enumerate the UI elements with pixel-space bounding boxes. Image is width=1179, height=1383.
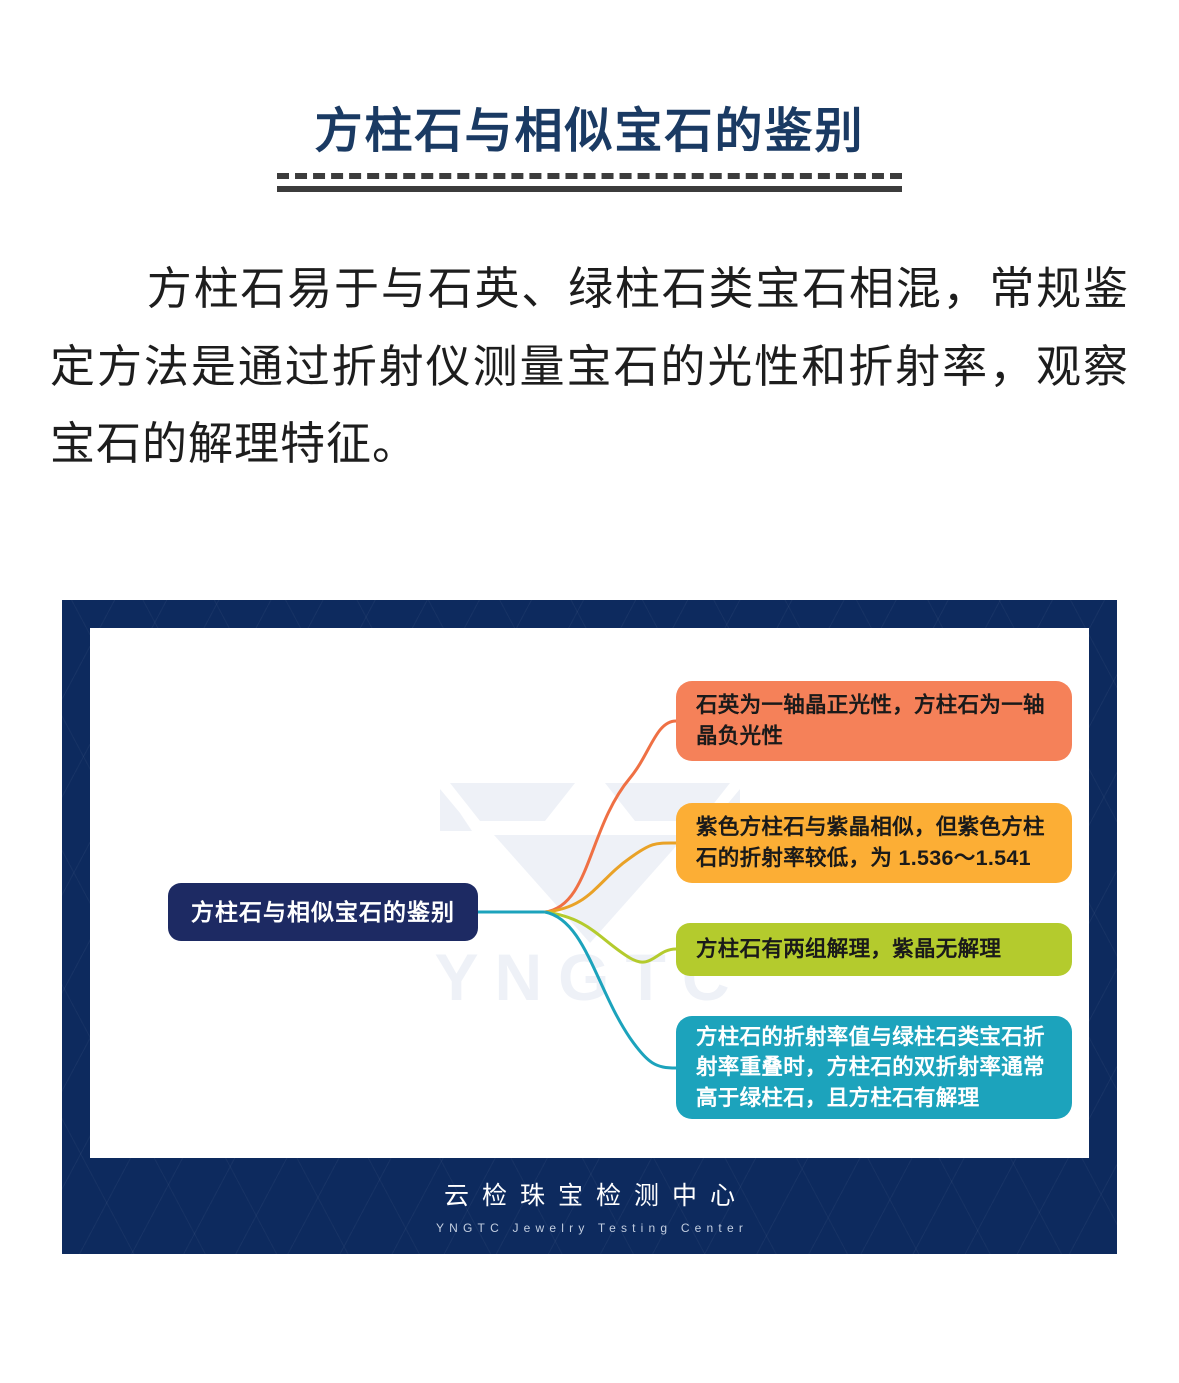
mindmap-card: YNGTC 方柱石与相似宝石的鉴别 石英为一轴晶正光性，方柱石为一轴晶负光性 紫… <box>90 628 1089 1158</box>
mindmap-branch-4-label: 方柱石的折射率值与绿柱石类宝石折射率重叠时，方柱石的双折射率通常高于绿柱石，且方… <box>696 1022 1052 1114</box>
mindmap-branch-1-label: 石英为一轴晶正光性，方柱石为一轴晶负光性 <box>696 690 1052 751</box>
mindmap-branch-1[interactable]: 石英为一轴晶正光性，方柱石为一轴晶负光性 <box>676 681 1072 761</box>
page-title: 方柱石与相似宝石的鉴别 <box>0 104 1179 159</box>
brand-name-en: YNGTC Jewelry Testing Center <box>62 1221 1117 1235</box>
title-block: 方柱石与相似宝石的鉴别 <box>0 0 1179 192</box>
solid-rule <box>277 186 902 192</box>
mindmap-frame: YNGTC 方柱石与相似宝石的鉴别 石英为一轴晶正光性，方柱石为一轴晶负光性 紫… <box>62 600 1117 1254</box>
title-underline-rules <box>277 173 902 192</box>
brand-name-cn: 云检珠宝检测中心 <box>62 1176 1117 1212</box>
dashed-rule <box>277 173 902 179</box>
footer-brand: 云检珠宝检测中心 YNGTC Jewelry Testing Center <box>62 1176 1117 1235</box>
body-paragraph: 方柱石易于与石英、绿柱石类宝石相混，常规鉴定方法是通过折射仪测量宝石的光性和折射… <box>50 250 1129 482</box>
body-paragraph-text: 方柱石易于与石英、绿柱石类宝石相混，常规鉴定方法是通过折射仪测量宝石的光性和折射… <box>50 263 1129 469</box>
mindmap-branch-4[interactable]: 方柱石的折射率值与绿柱石类宝石折射率重叠时，方柱石的双折射率通常高于绿柱石，且方… <box>676 1016 1072 1119</box>
mindmap-branch-2-label: 紫色方柱石与紫晶相似，但紫色方柱石的折射率较低，为 1.536～1.541 <box>696 812 1052 873</box>
connector-branch-1 <box>545 721 676 912</box>
mindmap-branch-3[interactable]: 方柱石有两组解理，紫晶无解理 <box>676 923 1072 976</box>
mindmap-root-node[interactable]: 方柱石与相似宝石的鉴别 <box>168 883 478 941</box>
connector-branch-4 <box>545 912 676 1068</box>
connector-branch-3 <box>545 912 676 962</box>
mindmap: 方柱石与相似宝石的鉴别 石英为一轴晶正光性，方柱石为一轴晶负光性 紫色方柱石与紫… <box>90 628 1089 1158</box>
mindmap-root-label: 方柱石与相似宝石的鉴别 <box>191 896 455 929</box>
mindmap-branch-2[interactable]: 紫色方柱石与紫晶相似，但紫色方柱石的折射率较低，为 1.536～1.541 <box>676 803 1072 883</box>
mindmap-branch-3-label: 方柱石有两组解理，紫晶无解理 <box>696 934 1001 965</box>
